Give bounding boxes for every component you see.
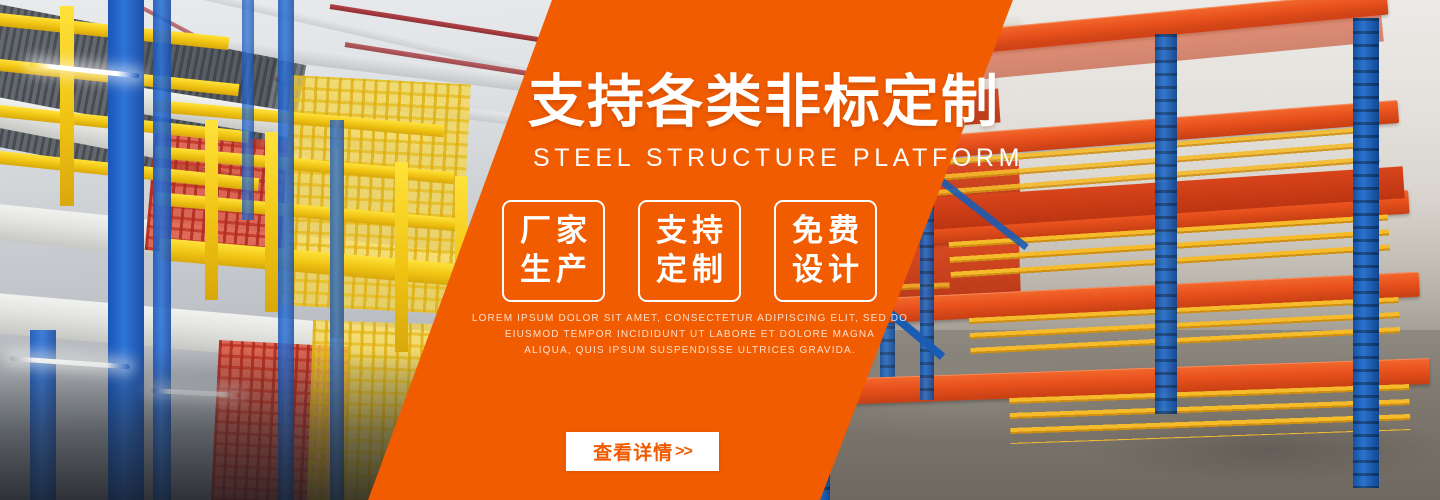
feature-badge-customization[interactable]: 支持 定制 — [638, 200, 741, 302]
badge-line-2: 设计 — [787, 252, 864, 289]
banner-subtitle: STEEL STRUCTURE PLATFORM — [533, 144, 1024, 173]
description-line-2: EIUSMOD TEMPOR INCIDIDUNT UT LABORE ET D… — [440, 327, 940, 343]
feature-badge-list: 厂家 生产 支持 定制 免费 设计 — [502, 200, 877, 302]
description-line-3: ALIQUA, QUIS IPSUM SUSPENDISSE ULTRICES … — [440, 343, 940, 359]
badge-line-2: 生产 — [515, 252, 592, 289]
badge-line-1: 免费 — [787, 213, 864, 250]
badge-line-1: 厂家 — [515, 213, 592, 250]
promo-banner: 支持各类非标定制 STEEL STRUCTURE PLATFORM 厂家 生产 … — [0, 0, 1440, 500]
feature-badge-manufacturer[interactable]: 厂家 生产 — [502, 200, 605, 302]
page-title: 支持各类非标定制 — [528, 72, 1000, 134]
description-line-1: LOREM IPSUM DOLOR SIT AMET, CONSECTETUR … — [440, 311, 940, 327]
view-details-button[interactable]: 查看详情 >> — [566, 432, 719, 471]
badge-line-2: 定制 — [651, 252, 728, 289]
banner-description: LOREM IPSUM DOLOR SIT AMET, CONSECTETUR … — [440, 311, 940, 360]
view-details-label: 查看详情 — [593, 438, 673, 465]
feature-badge-free-design[interactable]: 免费 设计 — [774, 200, 877, 302]
chevron-right-icon: >> — [675, 443, 692, 461]
banner-content: 支持各类非标定制 STEEL STRUCTURE PLATFORM 厂家 生产 … — [0, 0, 1440, 500]
badge-line-1: 支持 — [651, 213, 728, 250]
